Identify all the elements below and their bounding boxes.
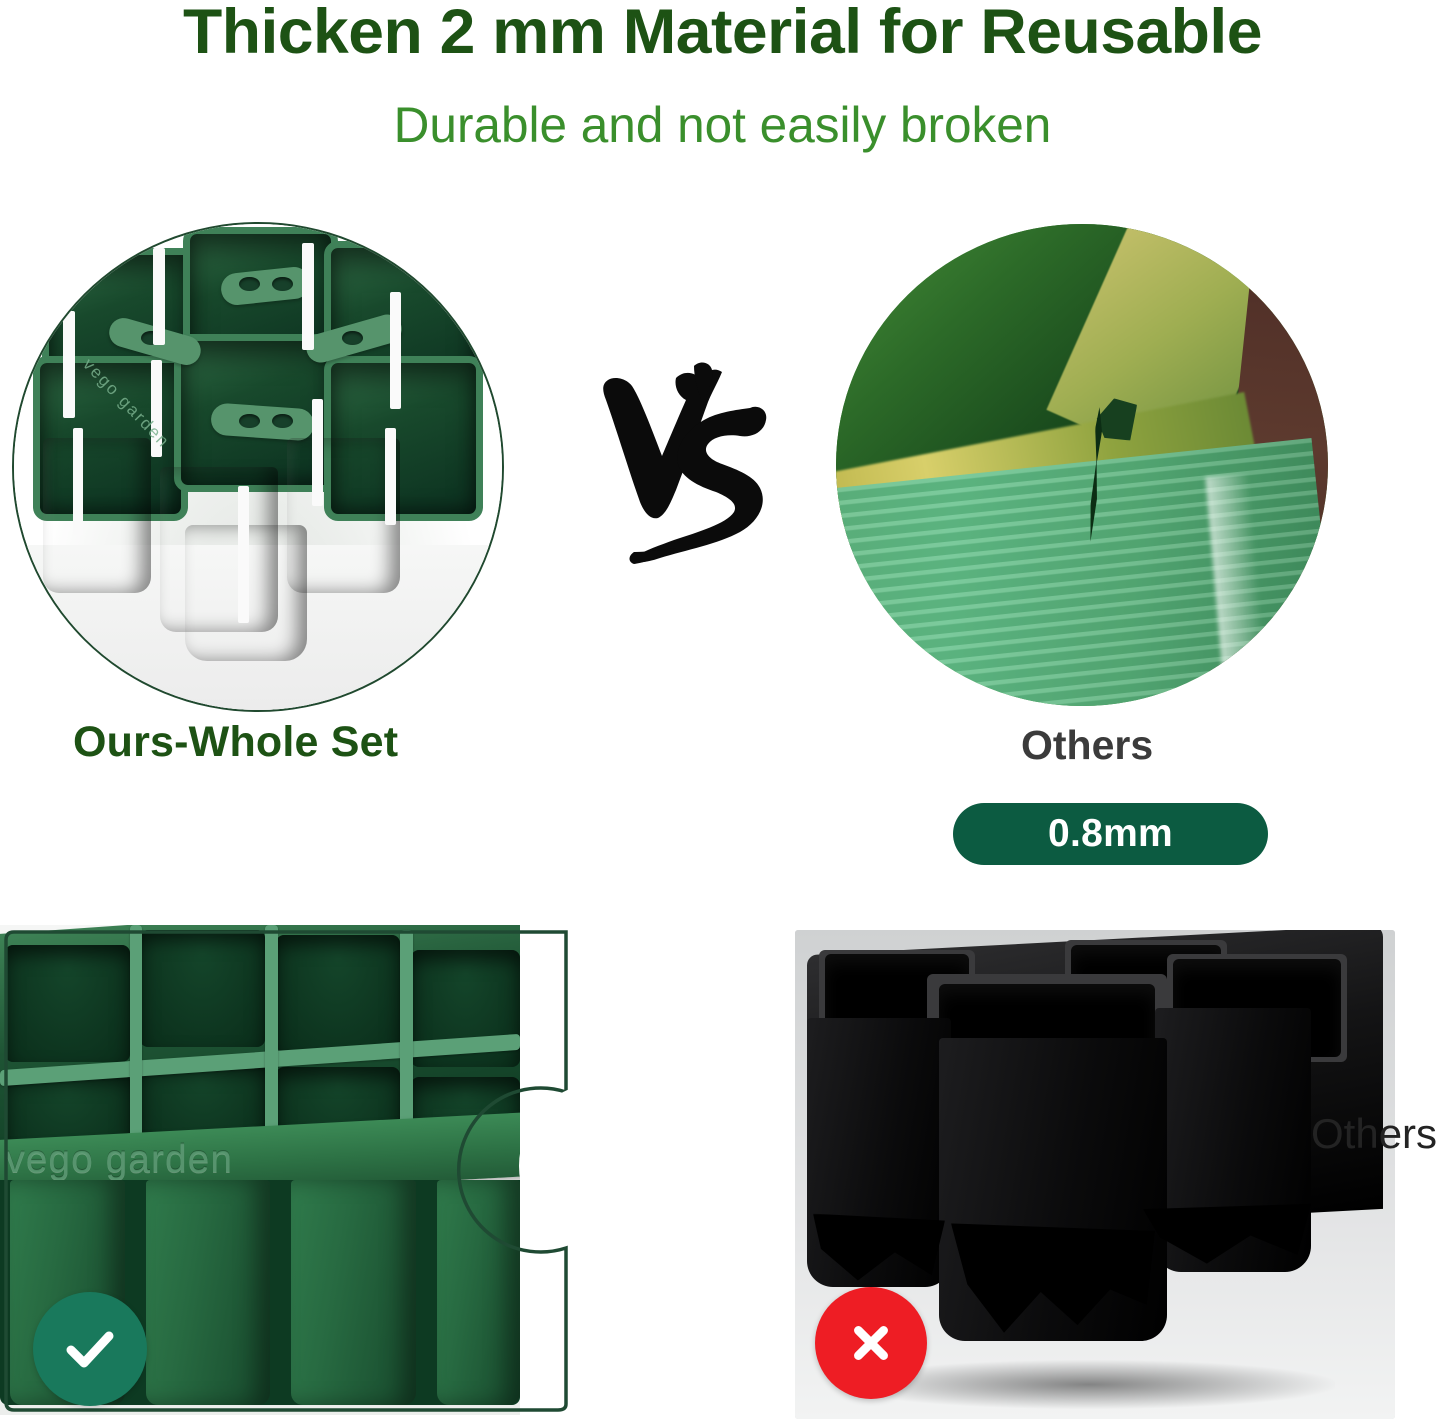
status-badge-x bbox=[815, 1287, 927, 1399]
cracked-pot-photo bbox=[836, 224, 1328, 706]
ours-label: Ours-Whole Set bbox=[73, 718, 398, 767]
ours-product-photo-circle: vego garden bbox=[12, 222, 504, 712]
vs-icon bbox=[582, 352, 782, 568]
green-tray-photo: vego garden bbox=[14, 224, 502, 710]
x-icon bbox=[840, 1312, 902, 1374]
others-label-top: Others bbox=[1021, 722, 1153, 769]
infographic-canvas: Thicken 2 mm Material for Reusable Durab… bbox=[0, 0, 1445, 1421]
others-product-photo-circle bbox=[836, 224, 1328, 706]
page-title: Thicken 2 mm Material for Reusable bbox=[0, 0, 1445, 68]
check-icon bbox=[58, 1317, 122, 1381]
thickness-badge: 0.8mm bbox=[953, 803, 1268, 865]
page-subtitle: Durable and not easily broken bbox=[7, 96, 1438, 154]
status-badge-check bbox=[33, 1292, 147, 1406]
embossed-logo: vego garden bbox=[5, 1138, 233, 1182]
others-label-bottom: Others bbox=[1311, 1110, 1437, 1158]
callout-cutout-circle bbox=[519, 1082, 687, 1250]
